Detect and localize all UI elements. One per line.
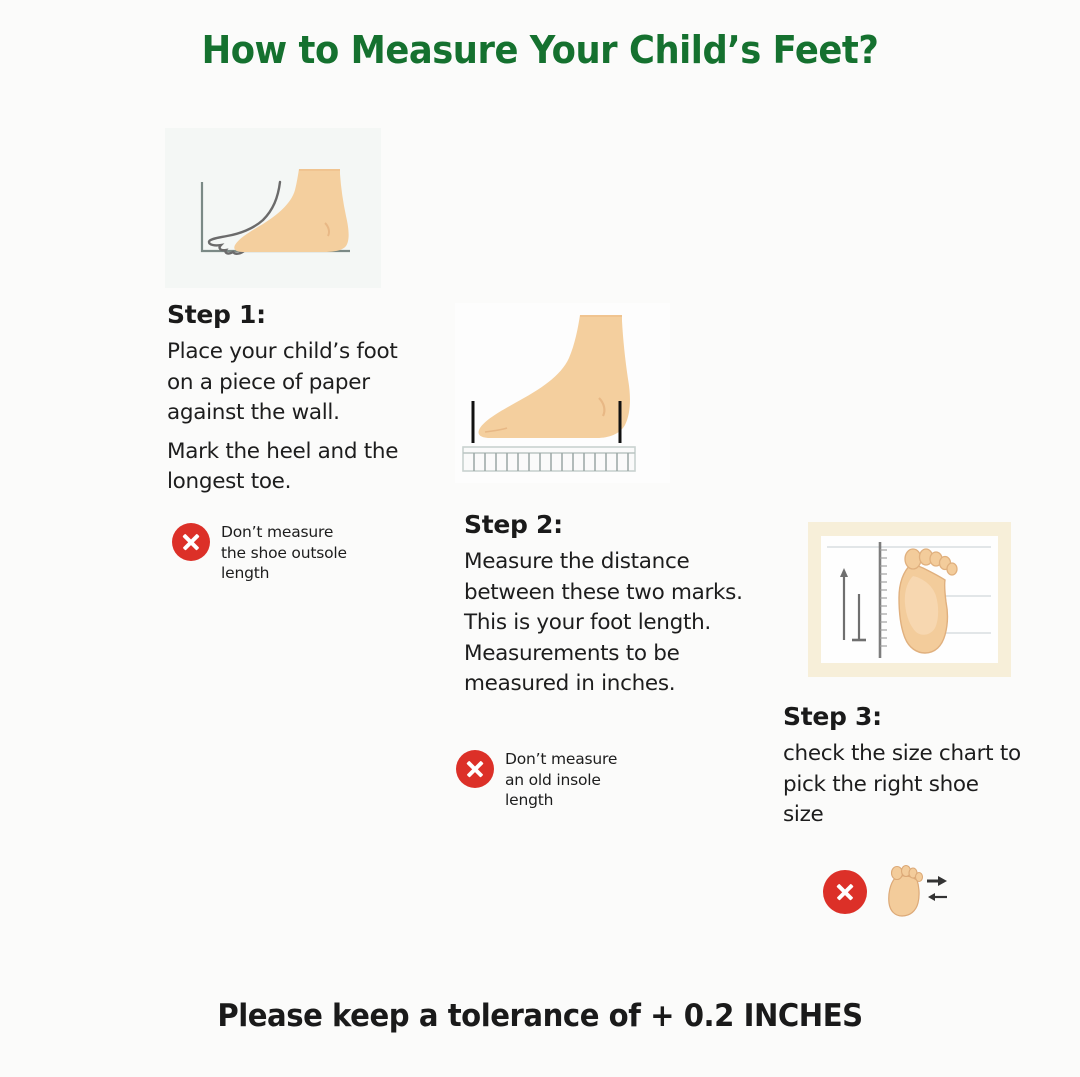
step-3-image-inner xyxy=(821,536,998,663)
foot-width-arrows-icon xyxy=(881,864,951,920)
step-2-text-block: Step 2: Measure the distance between the… xyxy=(464,510,774,700)
step-2-paragraph-1: Measure the distance between these two m… xyxy=(464,547,774,700)
step-1-text-block: Step 1: Place your child’s foot on a pie… xyxy=(167,300,417,498)
page-title: How to Measure Your Child’s Feet? xyxy=(38,28,1042,72)
step-2-warning-text: Don’t measure an old insole length xyxy=(505,748,617,811)
step-1-warning-line-3: length xyxy=(221,563,347,584)
step-2-warning: Don’t measure an old insole length xyxy=(456,748,666,811)
foot-against-wall-illustration xyxy=(165,128,381,288)
step-1-body: Place your child’s foot on a piece of pa… xyxy=(167,337,417,498)
step-2-body: Measure the distance between these two m… xyxy=(464,547,774,700)
step-3-label: Step 3: xyxy=(783,702,1023,731)
red-x-circle-icon xyxy=(172,523,210,561)
foot-on-ruler-illustration xyxy=(455,303,670,483)
step-2-warning-line-2: an old insole xyxy=(505,770,617,791)
red-x-circle-icon xyxy=(823,870,867,914)
tolerance-note: Please keep a tolerance of + 0.2 INCHES xyxy=(32,998,1047,1034)
step-3-body: check the size chart to pick the right s… xyxy=(783,739,1023,831)
step-2-image-panel xyxy=(455,303,670,483)
step-3-warning xyxy=(823,864,973,920)
step-2-warning-line-1: Don’t measure xyxy=(505,749,617,770)
red-x-circle-icon xyxy=(456,750,494,788)
step-3-text-block: Step 3: check the size chart to pick the… xyxy=(783,702,1023,831)
step-3-paragraph-1: check the size chart to pick the right s… xyxy=(783,739,1023,831)
step-1-label: Step 1: xyxy=(167,300,417,329)
step-1-paragraph-2: Mark the heel and the longest toe. xyxy=(167,437,417,498)
footprint-size-chart-illustration xyxy=(821,536,998,663)
step-1-warning: Don’t measure the shoe outsole length xyxy=(172,521,372,584)
step-1-paragraph-1: Place your child’s foot on a piece of pa… xyxy=(167,337,417,429)
step-1-image-panel xyxy=(165,128,381,288)
step-2-label: Step 2: xyxy=(464,510,774,539)
step-3-image-panel xyxy=(808,522,1011,677)
step-1-warning-line-2: the shoe outsole xyxy=(221,543,347,564)
step-2-warning-line-3: length xyxy=(505,790,617,811)
step-1-warning-text: Don’t measure the shoe outsole length xyxy=(221,521,347,584)
step-1-warning-line-1: Don’t measure xyxy=(221,522,347,543)
foot-measure-infographic: { "title": "How to Measure Your Child\u2… xyxy=(0,0,1080,1077)
